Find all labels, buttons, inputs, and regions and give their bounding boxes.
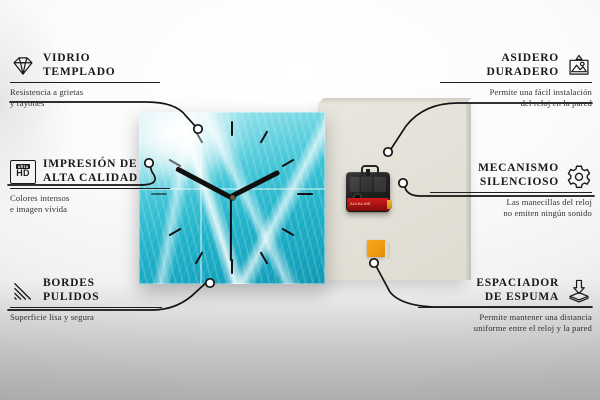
feature-desc-line2: uniforme entre el reloj y la pared [418,323,592,334]
feature-desc-line1: Permite mantener una distancia [418,312,592,323]
feature-header: BORDES PULIDOS [10,277,162,304]
feature-divider [418,307,592,308]
connector-dot-espaciador [370,259,378,267]
connector-dot-vidrio [194,125,202,133]
feature-title: ESPACIADOR DE ESPUMA [476,277,559,304]
feature-desc-line1: Permite una fácil instalación [440,87,592,98]
feature-divider [10,82,160,83]
ultra-hd-icon: ultra HD [10,160,36,184]
feature-header: MECANISMO SILENCIOSO [430,162,592,189]
connector-dot-asidero [384,148,392,156]
feature-divider [10,307,162,308]
feature-desc-line2: no emiten ningún sonido [430,208,592,219]
feature-header: ESPACIADOR DE ESPUMA [418,277,592,304]
feature-desc-line2: del reloj en la pared [440,98,592,109]
diamond-icon [10,53,36,79]
feature-title: BORDES PULIDOS [43,277,99,304]
connector-dot-bordes [206,279,214,287]
connector-asidero [391,103,592,149]
feature-header: ultra HD IMPRESIÓN DE ALTA CALIDAD [10,158,170,185]
gear-icon [566,163,592,189]
feature-desc-line2: e imagen vívida [10,204,170,215]
infographic-canvas: ALKALINE [0,0,600,400]
picture-hanger-icon [566,53,592,79]
connector-dot-mecanismo [399,179,407,187]
hd-label: HD [16,169,30,179]
feature-header: ASIDERO DURADERO [440,52,592,79]
feature-desc-line1: Superficie lisa y segura [10,312,162,323]
feature-vidrio-templado[interactable]: VIDRIO TEMPLADO Resistencia a grietas y … [10,52,160,109]
feature-header: VIDRIO TEMPLADO [10,52,160,79]
feature-espaciador-de-espuma[interactable]: ESPACIADOR DE ESPUMA Permite mantener un… [418,277,592,334]
feature-desc-line2: y rayones [10,98,160,109]
polished-edge-icon [10,278,36,304]
foam-spacer-icon [566,278,592,304]
feature-mecanismo-silencioso[interactable]: MECANISMO SILENCIOSO Las manecillas del … [430,162,592,219]
feature-asidero-duradero[interactable]: ASIDERO DURADERO Permite una fácil insta… [440,52,592,109]
feature-impresion-alta-calidad[interactable]: ultra HD IMPRESIÓN DE ALTA CALIDAD Color… [10,158,170,215]
feature-divider [440,82,592,83]
feature-divider [430,192,592,193]
feature-desc-line1: Resistencia a grietas [10,87,160,98]
feature-desc-line1: Las manecillas del reloj [430,197,592,208]
feature-title: ASIDERO DURADERO [487,52,559,79]
feature-title: MECANISMO SILENCIOSO [478,162,559,189]
feature-bordes-pulidos[interactable]: BORDES PULIDOS Superficie lisa y segura [10,277,162,323]
feature-desc-line1: Colores intensos [10,193,170,204]
feature-divider [10,188,170,189]
feature-title: VIDRIO TEMPLADO [43,52,115,79]
feature-title: IMPRESIÓN DE ALTA CALIDAD [43,158,138,185]
